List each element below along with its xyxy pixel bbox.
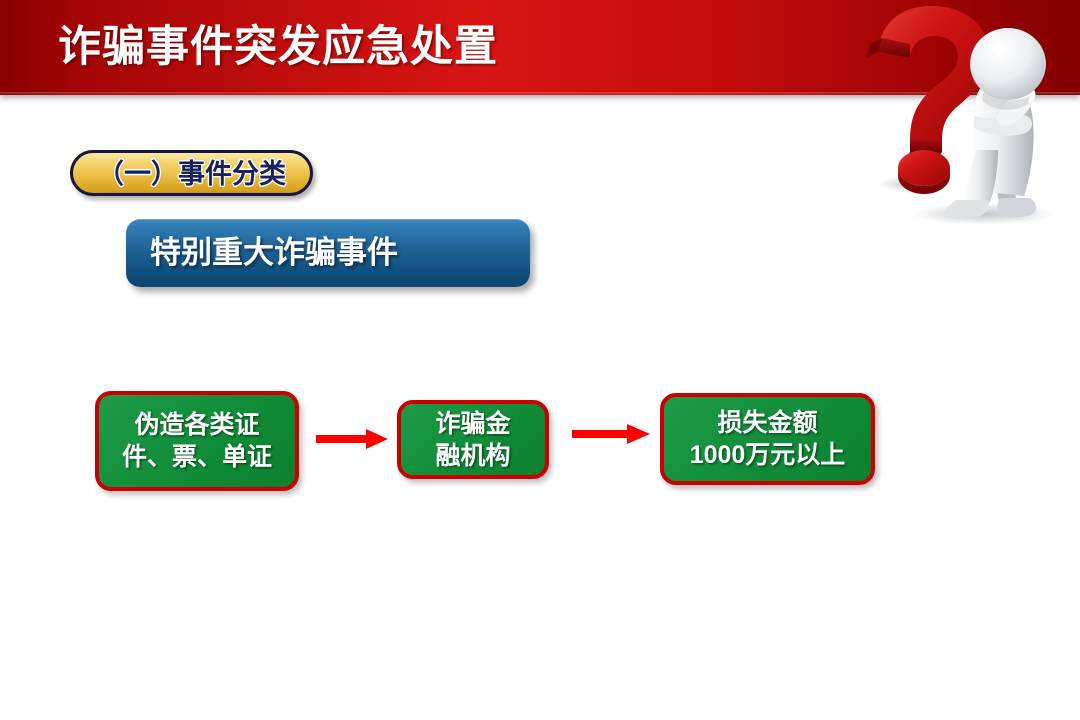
category-box: 特别重大诈骗事件 [126,219,530,287]
category-box-label: 特别重大诈骗事件 [150,233,398,273]
slide-canvas: 诈骗事件突发应急处置 [0,0,1080,720]
flow-box-1-label: 伪造各类证 件、票、单证 [122,409,272,473]
question-mark-thinker-icon [856,0,1080,224]
flow-box-1: 伪造各类证 件、票、单证 [95,391,299,491]
flow-arrow-right-icon-2 [572,422,650,446]
flow-box-3-label: 损失金额 1000万元以上 [690,407,846,471]
flow-arrow-right-icon-1 [316,427,388,451]
page-title: 诈骗事件突发应急处置 [58,18,498,76]
flow-box-2: 诈骗金 融机构 [397,400,549,479]
section-badge-label: （一）事件分类 [73,157,310,191]
section-badge: （一）事件分类 [70,150,313,196]
flow-box-3: 损失金额 1000万元以上 [660,393,875,485]
flow-box-2-label: 诈骗金 融机构 [435,408,510,472]
